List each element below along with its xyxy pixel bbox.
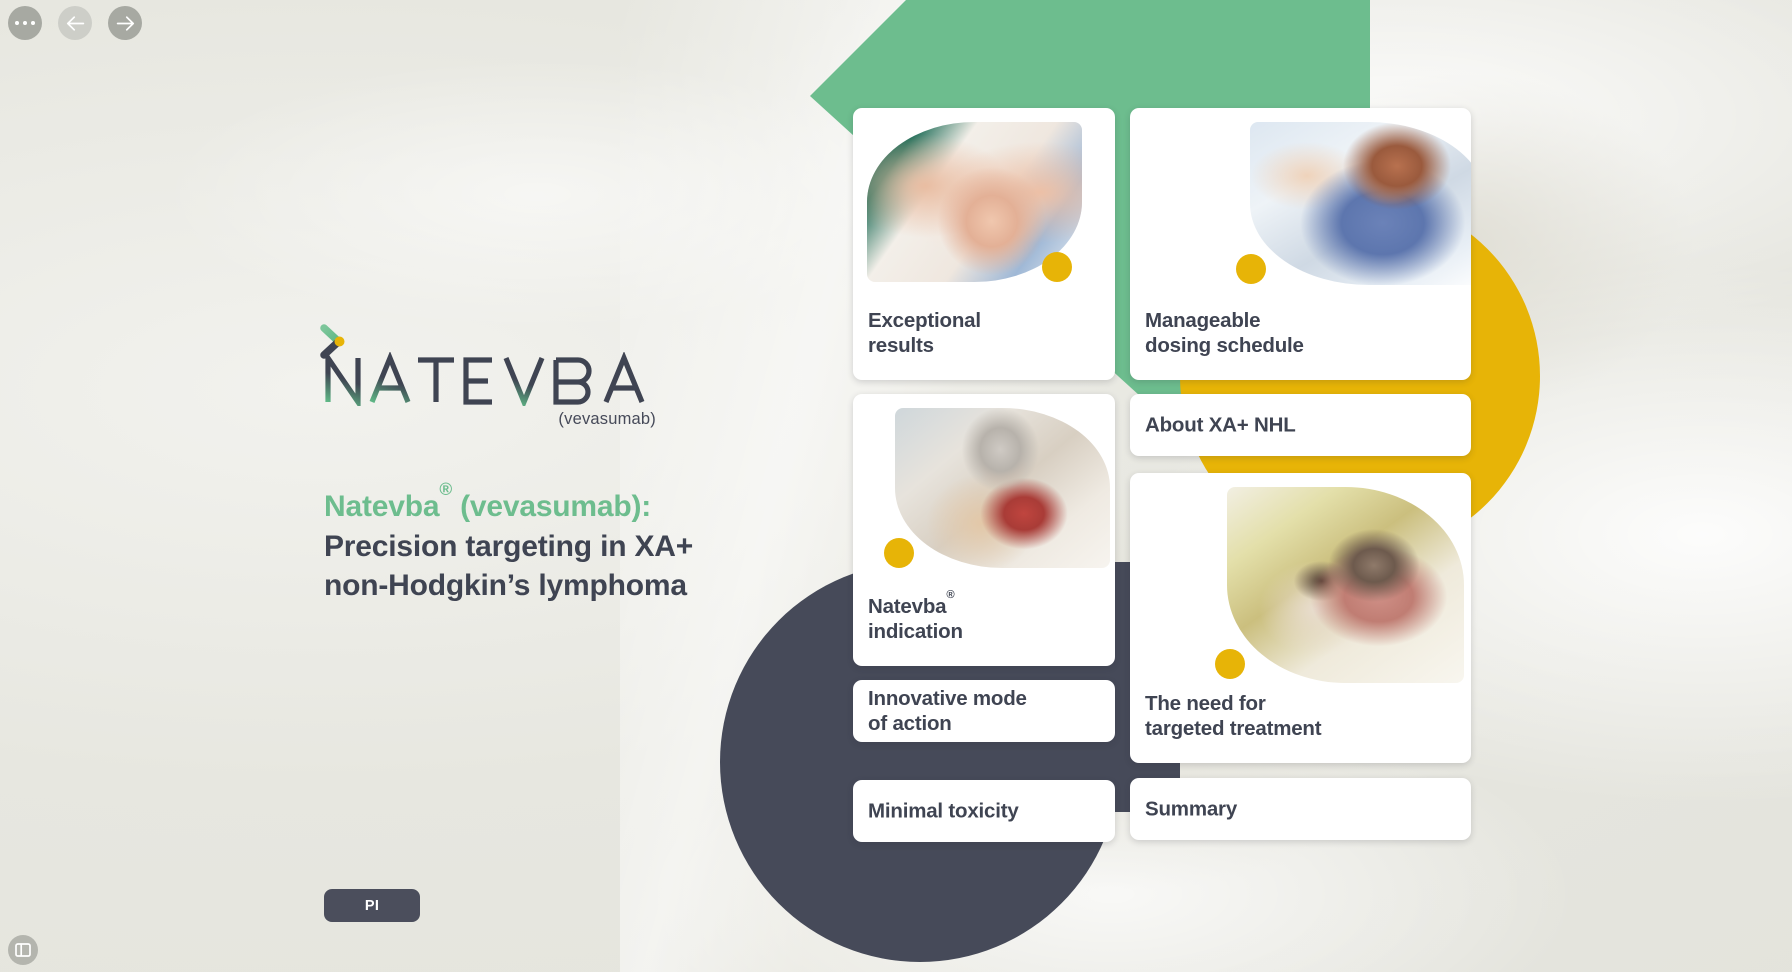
accent-dot <box>1215 649 1245 679</box>
headline-line-2: Precision targeting in XA+ <box>324 527 794 567</box>
title-column: (vevasumab) Natevba® (vevasumab): Precis… <box>324 0 844 972</box>
card-title: The need fortargeted treatment <box>1145 691 1321 741</box>
card-minimal-toxicity[interactable]: Minimal toxicity <box>853 780 1115 842</box>
card-manageable-dosing-schedule[interactable]: Manageabledosing schedule <box>1130 108 1471 380</box>
card-title: Manageabledosing schedule <box>1145 308 1304 358</box>
arrow-right-glyph <box>116 16 135 31</box>
card-title: Natevba®indication <box>868 594 963 644</box>
accent-dot <box>884 538 914 568</box>
accent-dot <box>1236 254 1266 284</box>
headline-line-3: non-Hodgkin’s lymphoma <box>324 566 794 606</box>
older-couple-outdoors-photo <box>1227 487 1464 683</box>
ellipsis-dots <box>15 21 36 26</box>
card-innovative-mode-of-action[interactable]: Innovative modeof action <box>853 680 1115 742</box>
card-title: Innovative modeof action <box>868 686 1027 736</box>
arrow-right-icon[interactable] <box>108 6 142 40</box>
sidebar-panel-icon[interactable] <box>8 935 38 965</box>
card-need-for-targeted-treatment[interactable]: The need fortargeted treatment <box>1130 473 1471 763</box>
arrow-left-glyph <box>66 16 85 31</box>
card-exceptional-results[interactable]: Exceptionalresults <box>853 108 1115 380</box>
pi-button[interactable]: PI <box>324 889 420 922</box>
brand-generic-name: (vevasumab) <box>558 410 656 429</box>
brand-logo: (vevasumab) <box>324 352 674 406</box>
card-title: Exceptionalresults <box>868 308 981 358</box>
card-about-xa-nhl[interactable]: About XA+ NHL <box>1130 394 1471 456</box>
accent-dot <box>1042 252 1072 282</box>
arrow-left-icon[interactable] <box>58 6 92 40</box>
menu-card-grid: Exceptionalresults Manageabledosing sche… <box>853 0 1473 972</box>
slide-canvas: (vevasumab) Natevba® (vevasumab): Precis… <box>0 0 1792 972</box>
nurse-iv-drip-photo <box>1250 122 1471 285</box>
card-title: About XA+ NHL <box>1145 412 1296 437</box>
page-title: Natevba® (vevasumab): Precision targetin… <box>324 487 794 606</box>
navigation-bar <box>8 6 142 40</box>
sidebar-panel-glyph <box>15 943 31 957</box>
card-summary[interactable]: Summary <box>1130 778 1471 840</box>
headline-line-1: Natevba® (vevasumab): <box>324 487 794 527</box>
ellipsis-icon[interactable] <box>8 6 42 40</box>
card-title: Minimal toxicity <box>868 798 1019 823</box>
card-natevba-indication[interactable]: Natevba®indication <box>853 394 1115 666</box>
older-woman-cafe-photo <box>895 408 1110 568</box>
chevron-brand-mark <box>319 324 353 364</box>
card-title: Summary <box>1145 796 1237 821</box>
brand-wordmark <box>324 352 660 406</box>
